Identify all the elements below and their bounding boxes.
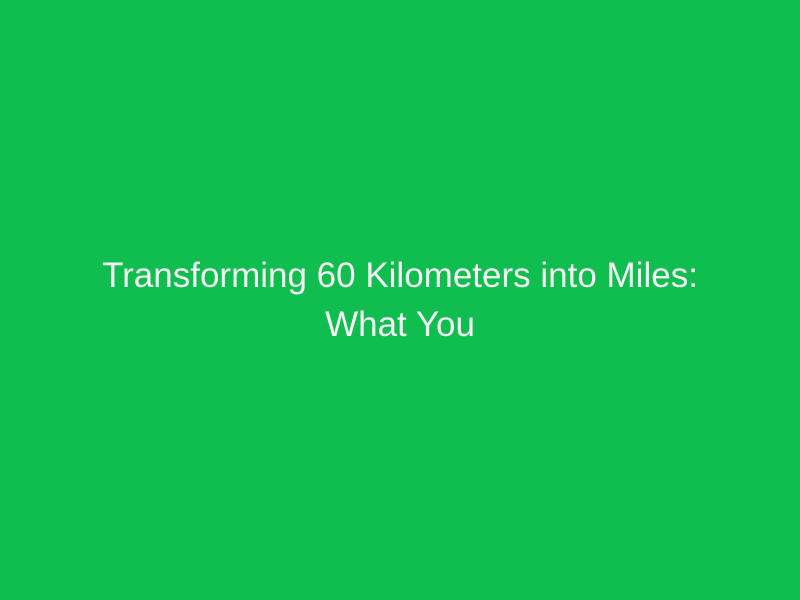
- title-card: Transforming 60 Kilometers into Miles: W…: [0, 0, 800, 600]
- title-block: Transforming 60 Kilometers into Miles: W…: [69, 251, 731, 349]
- page-title: Transforming 60 Kilometers into Miles: W…: [69, 251, 731, 349]
